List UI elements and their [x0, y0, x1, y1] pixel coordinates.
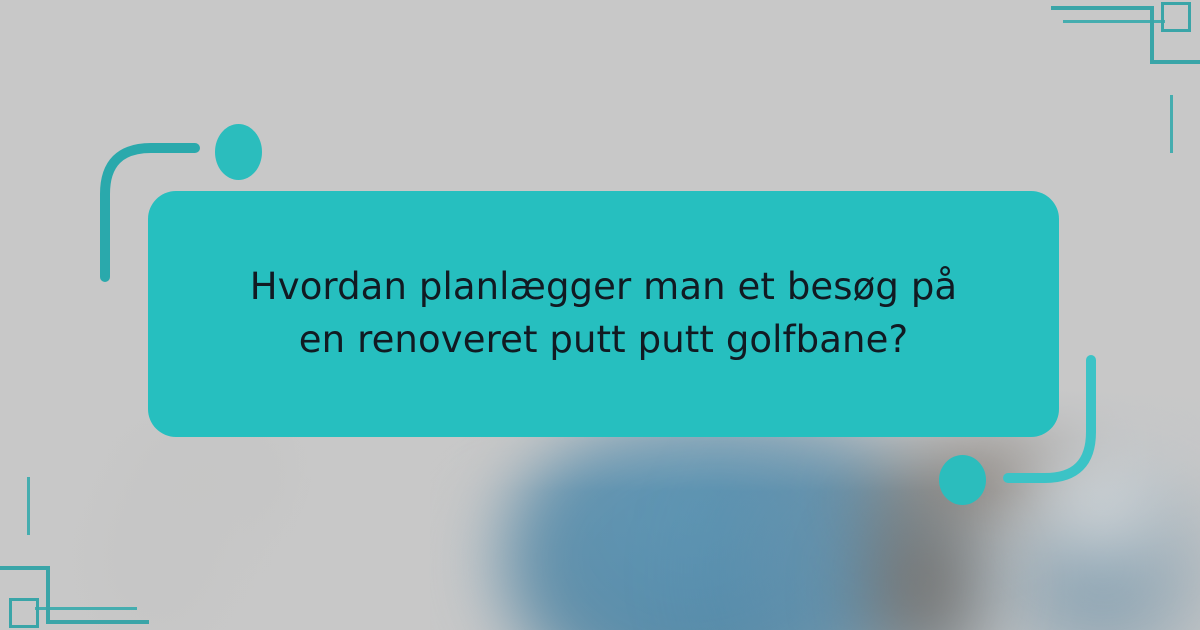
deco-line: [1150, 60, 1200, 64]
deco-line: [0, 566, 50, 570]
deco-square: [1161, 2, 1191, 32]
deco-line: [46, 566, 50, 624]
deco-line: [1051, 6, 1154, 10]
poster-canvas: Hvordan planlægger man et besøg på en re…: [0, 0, 1200, 630]
deco-line: [35, 607, 137, 610]
deco-line: [46, 620, 149, 624]
deco-line: [27, 477, 30, 535]
question-title: Hvordan planlægger man et besøg på en re…: [239, 261, 969, 366]
dot-top-left: [215, 124, 262, 180]
deco-line: [1170, 95, 1173, 153]
deco-line: [1150, 6, 1154, 64]
dot-bottom-right: [939, 455, 986, 505]
deco-square: [9, 598, 39, 628]
question-card: Hvordan planlægger man et besøg på en re…: [148, 191, 1059, 437]
